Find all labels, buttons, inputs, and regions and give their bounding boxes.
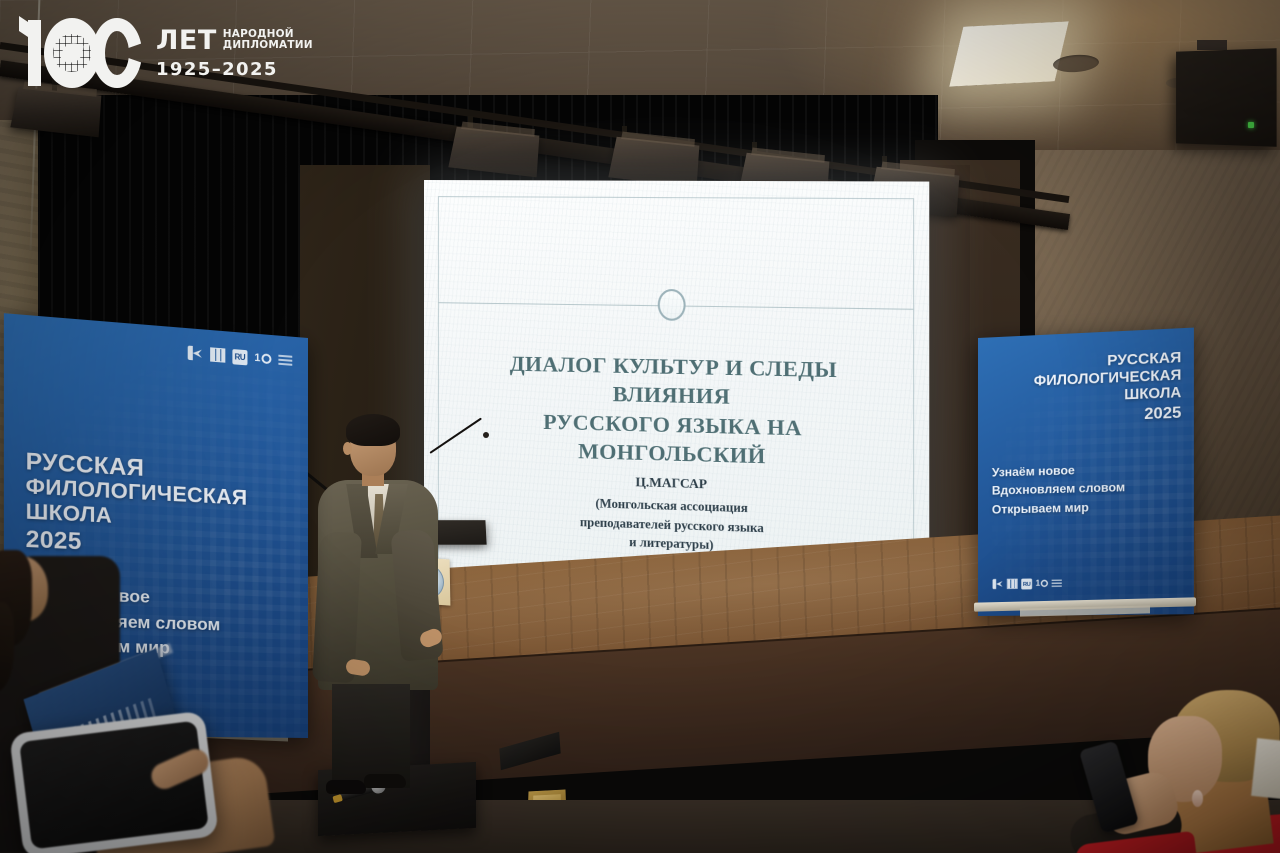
hundred-ring-icon: 1 [254, 352, 271, 365]
banner-right-tagline: Узнаём новое Вдохновляем словом Открывае… [992, 458, 1179, 519]
slide-author-org-line2: преподавателей русского языка [580, 515, 764, 535]
watermark-years-word: ЛЕТ [156, 27, 217, 54]
loudspeaker-power-led [1248, 122, 1254, 128]
speaker-shoe-left [326, 780, 366, 794]
foreground-phone [9, 711, 219, 853]
watermark-logo: ЛЕТ НАРОДНОЙ ДИПЛОМАТИИ 1925–2025 [22, 14, 313, 92]
dove-icon [60, 41, 84, 65]
banner-left-logo-strip: RU 1 [187, 344, 293, 368]
hundred-digit: 1 [254, 352, 260, 365]
watermark-text-block: ЛЕТ НАРОДНОЙ ДИПЛОМАТИИ 1925–2025 [156, 27, 313, 80]
partner-mark-icon [278, 355, 292, 366]
speaker-bracket [1197, 40, 1227, 50]
watermark-year-range: 1925–2025 [156, 59, 313, 80]
watermark-subtitle-line2: ДИПЛОМАТИИ [223, 39, 313, 51]
slide-title: ДИАЛОГ КУЛЬТУР И СЛЕДЫ ВЛИЯНИЯ РУССКОГО … [458, 349, 893, 475]
slide-title-line2: РУССКОГО ЯЗЫКА НА МОНГОЛЬСКИЙ [543, 409, 802, 468]
ru-badge-icon: RU [1021, 578, 1032, 589]
watermark-headline-row: ЛЕТ НАРОДНОЙ ДИПЛОМАТИИ [156, 27, 313, 54]
slide-author-org-line3: и литературы) [629, 535, 713, 552]
watermark-globe-seal-icon [44, 18, 100, 88]
photo-scene: ДИАЛОГ КУЛЬТУР И СЛЕДЫ ВЛИЯНИЯ РУССКОГО … [0, 0, 1280, 853]
banner-right-tagline-line1: Узнаём новое [992, 463, 1075, 480]
speaker-person [316, 412, 444, 792]
watermark-digit-one [28, 20, 41, 86]
hundred-ring-icon: 1 [1036, 579, 1048, 588]
banner-left-title: РУССКАЯ ФИЛОЛОГИЧЕСКАЯ ШКОЛА 2025 [26, 447, 302, 564]
audience-left-hair-back [0, 602, 14, 692]
banner-right-logo-strip: RU 1 [992, 577, 1062, 590]
globe-grid-icon [53, 34, 91, 72]
slide-author-org-line1: (Монгольская ассоциация [596, 496, 748, 515]
banner-right-tagline-line3: Открываем мир [992, 500, 1089, 516]
hundred-digit: 1 [1036, 579, 1040, 588]
partner-mark-icon [1052, 580, 1062, 587]
microphone-capsule [483, 432, 489, 438]
mgu-block-icon [1007, 579, 1018, 589]
watermark-numeral-100 [22, 14, 142, 92]
banner-right-tagline-line2: Вдохновляем словом [992, 480, 1125, 498]
bird-flame-icon [992, 578, 1003, 590]
audience-right-paper [1251, 738, 1280, 800]
ceiling-panel-light [949, 21, 1068, 86]
speaker-legs [332, 684, 410, 788]
ru-badge-icon: RU [232, 349, 247, 365]
audience-right-earring [1192, 790, 1203, 807]
ring-glyph-icon [1041, 580, 1048, 587]
slide-ring-ornament-icon [658, 289, 686, 321]
ring-glyph-icon [261, 353, 271, 364]
watermark-subtitle-line1: НАРОДНОЙ [223, 28, 294, 40]
microphone-tip [332, 794, 343, 803]
slide-title-line1: ДИАЛОГ КУЛЬТУР И СЛЕДЫ ВЛИЯНИЯ [510, 352, 837, 410]
banner-right: РУССКАЯ ФИЛОЛОГИЧЕСКАЯ ШКОЛА 2025 Узнаём… [978, 328, 1194, 616]
speaker-shoe-right [364, 774, 406, 788]
wall-loudspeaker [1176, 48, 1277, 147]
speaker-hair [346, 414, 400, 446]
audience-person-right [1052, 690, 1280, 853]
watermark-subtitle: НАРОДНОЙ ДИПЛОМАТИИ [223, 27, 313, 53]
mgu-block-icon [210, 347, 225, 362]
banner-right-title-line1: РУССКАЯ [1107, 349, 1181, 370]
watermark-c-ring [92, 18, 142, 88]
bird-flame-icon [187, 344, 203, 362]
banner-right-title: РУССКАЯ ФИЛОЛОГИЧЕСКАЯ ШКОЛА 2025 [990, 349, 1181, 430]
speaker-ear [343, 442, 352, 455]
